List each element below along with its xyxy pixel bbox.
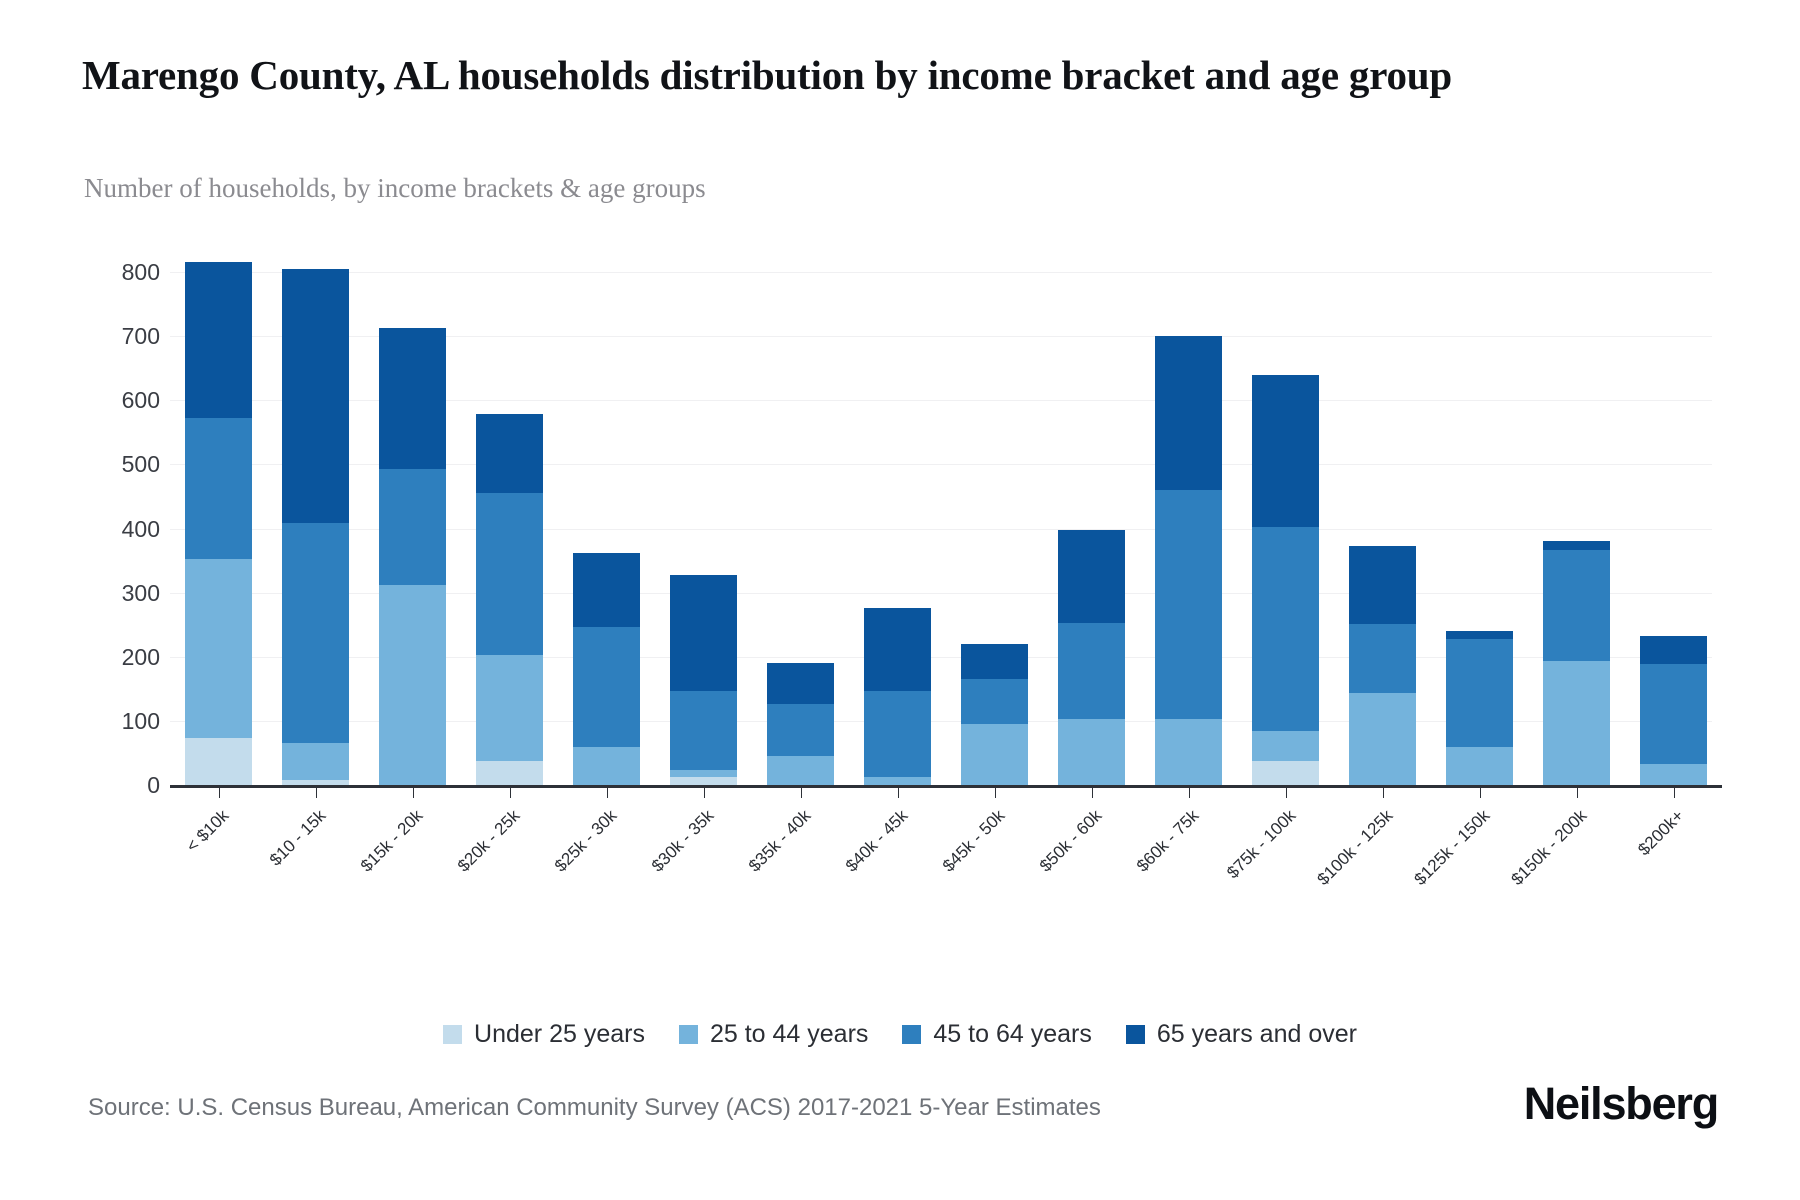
bar-segment[interactable] (573, 627, 641, 746)
legend-label: 45 to 64 years (933, 1020, 1091, 1049)
x-axis-tick (510, 785, 511, 798)
bar-segment[interactable] (1252, 375, 1320, 526)
bar-group[interactable] (1349, 546, 1417, 785)
legend-label: Under 25 years (474, 1020, 645, 1049)
y-axis-tick-label: 400 (80, 516, 160, 543)
x-axis-tick (995, 785, 996, 798)
bar-segment[interactable] (670, 770, 738, 778)
legend-swatch-icon (443, 1025, 462, 1044)
bar-segment[interactable] (670, 575, 738, 691)
x-axis-tick (607, 785, 608, 798)
bar-segment[interactable] (1640, 636, 1708, 664)
legend-label: 65 years and over (1157, 1020, 1357, 1049)
bar-segment[interactable] (476, 761, 544, 785)
bar-segment[interactable] (1446, 747, 1514, 785)
bar-segment[interactable] (1058, 530, 1126, 623)
bar-segment[interactable] (1252, 731, 1320, 761)
bar-segment[interactable] (185, 262, 253, 418)
legend-swatch-icon (1126, 1025, 1145, 1044)
bar-group[interactable] (185, 262, 253, 785)
bar-segment[interactable] (1543, 541, 1611, 549)
bar-segment[interactable] (961, 724, 1029, 785)
y-axis-tick-label: 800 (80, 259, 160, 286)
bar-segment[interactable] (476, 493, 544, 655)
y-axis-tick-label: 500 (80, 451, 160, 478)
bar-segment[interactable] (1349, 693, 1417, 785)
bar-segment[interactable] (379, 469, 447, 585)
bar-segment[interactable] (864, 608, 932, 691)
bar-segment[interactable] (1349, 624, 1417, 693)
bar-group[interactable] (1446, 631, 1514, 785)
bar-segment[interactable] (476, 414, 544, 493)
bar-group[interactable] (1058, 530, 1126, 785)
y-axis-tick-label: 0 (80, 772, 160, 799)
chart-page: Marengo County, AL households distributi… (0, 0, 1800, 1200)
legend-swatch-icon (902, 1025, 921, 1044)
bar-group[interactable] (670, 575, 738, 785)
y-axis-tick-label: 200 (80, 644, 160, 671)
legend-swatch-icon (679, 1025, 698, 1044)
bar-segment[interactable] (185, 418, 253, 559)
legend-item-2[interactable]: 25 to 44 years (679, 1020, 868, 1049)
y-axis-tick-label: 300 (80, 580, 160, 607)
bar-segment[interactable] (1543, 550, 1611, 662)
x-axis-tick (1189, 785, 1190, 798)
bar-group[interactable] (1543, 541, 1611, 785)
bar-segment[interactable] (282, 269, 350, 524)
bar-group[interactable] (961, 644, 1029, 785)
bar-segment[interactable] (1155, 336, 1223, 491)
bar-segment[interactable] (1446, 631, 1514, 639)
y-axis-tick-label: 600 (80, 387, 160, 414)
x-axis-tick (1383, 785, 1384, 798)
bar-segment[interactable] (670, 691, 738, 769)
chart-subtitle: Number of households, by income brackets… (84, 172, 1584, 204)
bar-group[interactable] (1155, 336, 1223, 786)
x-axis-tick (1577, 785, 1578, 798)
x-axis-tick (801, 785, 802, 798)
bar-segment[interactable] (1155, 719, 1223, 785)
x-axis-tick (1092, 785, 1093, 798)
bar-segment[interactable] (379, 328, 447, 469)
bar-segment[interactable] (1058, 623, 1126, 719)
bar-segment[interactable] (282, 743, 350, 780)
x-axis-tick (1480, 785, 1481, 798)
y-axis-tick-label: 700 (80, 323, 160, 350)
bar-segment[interactable] (864, 777, 932, 785)
x-axis-tick (316, 785, 317, 798)
bar-segment[interactable] (670, 777, 738, 785)
bar-group[interactable] (282, 269, 350, 785)
bar-segment[interactable] (1349, 546, 1417, 624)
bar-group[interactable] (1640, 636, 1708, 785)
y-axis-labels: 0100200300400500600700800 (80, 272, 160, 785)
bar-segment[interactable] (185, 559, 253, 738)
bar-group[interactable] (476, 414, 544, 785)
x-axis-tick (1674, 785, 1675, 798)
bar-series-container (170, 272, 1722, 785)
bar-segment[interactable] (767, 704, 835, 756)
y-axis-tick-label: 100 (80, 708, 160, 735)
bar-segment[interactable] (767, 756, 835, 785)
x-axis-tick (704, 785, 705, 798)
page-title: Marengo County, AL households distributi… (82, 50, 1722, 100)
bar-group[interactable] (864, 608, 932, 785)
legend-item-3[interactable]: 45 to 64 years (902, 1020, 1091, 1049)
bar-segment[interactable] (864, 691, 932, 778)
bar-segment[interactable] (1446, 639, 1514, 747)
bar-segment[interactable] (573, 747, 641, 785)
x-axis-tick (413, 785, 414, 798)
brand-logo: Neilsberg (1524, 1078, 1718, 1130)
bar-segment[interactable] (961, 644, 1029, 679)
bar-group[interactable] (379, 328, 447, 785)
legend-item-4[interactable]: 65 years and over (1126, 1020, 1357, 1049)
bar-segment[interactable] (1252, 761, 1320, 785)
bar-segment[interactable] (1155, 490, 1223, 719)
bar-segment[interactable] (379, 585, 447, 785)
bar-segment[interactable] (185, 738, 253, 785)
bar-group[interactable] (573, 553, 641, 785)
bar-segment[interactable] (1640, 664, 1708, 764)
x-axis-tick (219, 785, 220, 798)
bar-segment[interactable] (476, 655, 544, 761)
x-axis-tick (1286, 785, 1287, 798)
bar-segment[interactable] (573, 553, 641, 627)
bar-segment[interactable] (1640, 764, 1708, 785)
bar-segment[interactable] (1252, 527, 1320, 731)
bar-segment[interactable] (1543, 661, 1611, 785)
x-axis-line (170, 785, 1722, 788)
bar-segment[interactable] (961, 679, 1029, 725)
bar-segment[interactable] (282, 523, 350, 743)
legend-item-1[interactable]: Under 25 years (443, 1020, 645, 1049)
x-axis-tick (898, 785, 899, 798)
legend-label: 25 to 44 years (710, 1020, 868, 1049)
bar-segment[interactable] (1058, 719, 1126, 785)
chart-legend: Under 25 years25 to 44 years45 to 64 yea… (0, 1020, 1800, 1049)
bar-segment[interactable] (767, 663, 835, 705)
bar-group[interactable] (767, 663, 835, 785)
bar-group[interactable] (1252, 375, 1320, 785)
source-note: Source: U.S. Census Bureau, American Com… (88, 1094, 1101, 1122)
